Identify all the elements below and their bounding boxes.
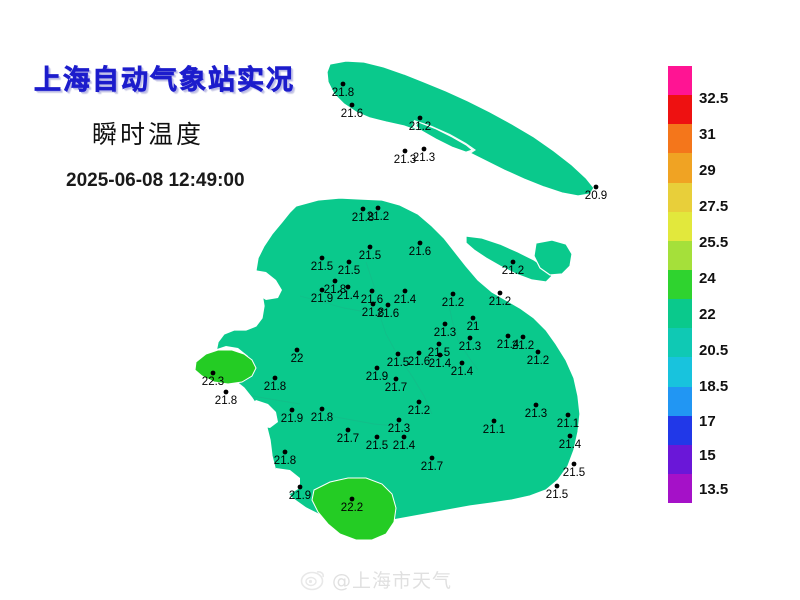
colorbar-tick: 18.5 (699, 379, 728, 394)
station-dot (568, 434, 573, 439)
station-dot (460, 361, 465, 366)
temperature-colorbar[interactable]: 32.5312927.525.5242220.518.5171513.5 (668, 66, 788, 506)
station-dot (295, 348, 300, 353)
station-dot (403, 149, 408, 154)
colorbar-tick: 29 (699, 163, 716, 178)
colorbar-tick: 13.5 (699, 482, 728, 497)
region-chongming-island[interactable] (327, 61, 594, 196)
station-dot (376, 206, 381, 211)
station-dot (572, 462, 577, 467)
station-dot (534, 403, 539, 408)
colorbar-tick: 15 (699, 448, 716, 463)
station-temperature-label: 21.5 (338, 265, 360, 277)
station-temperature-label: 21.5 (546, 489, 568, 501)
colorbar-tick: 17 (699, 414, 716, 429)
station-dot (536, 350, 541, 355)
station-temperature-label: 21.1 (483, 424, 505, 436)
colorbar-segment (668, 183, 692, 212)
colorbar-tick: 32.5 (699, 91, 728, 106)
station-temperature-label: 21.5 (387, 357, 409, 369)
station-temperature-label: 21.9 (281, 413, 303, 425)
station-dot (417, 351, 422, 356)
station-dot (594, 185, 599, 190)
station-dot (396, 352, 401, 357)
colorbar-tick: 31 (699, 127, 716, 142)
station-dot (224, 390, 229, 395)
station-dot (375, 435, 380, 440)
colorbar-segment (668, 445, 692, 474)
colorbar-segment (668, 212, 692, 241)
station-dot (320, 288, 325, 293)
colorbar-tick: 20.5 (699, 343, 728, 358)
station-temperature-label: 21.2 (409, 121, 431, 133)
station-dot (521, 335, 526, 340)
colorbar-gradient-strip (668, 66, 692, 503)
station-dot (361, 207, 366, 212)
map-svg: 21.821.621.221.321.320.921.821.221.521.6… (0, 0, 660, 600)
station-temperature-label: 22 (291, 353, 304, 365)
colorbar-segment (668, 474, 692, 503)
station-dot (403, 289, 408, 294)
station-temperature-label: 21.2 (512, 340, 534, 352)
colorbar-segment (668, 124, 692, 153)
weather-map-screenshot: 上海自动气象站实况 瞬时温度 2025-06-08 12:49:00 (0, 0, 800, 600)
station-dot (418, 116, 423, 121)
colorbar-segment (668, 153, 692, 182)
station-temperature-label: 21.8 (311, 412, 333, 424)
station-dot (443, 322, 448, 327)
station-temperature-label: 21.6 (377, 308, 399, 320)
colorbar-segment (668, 66, 692, 95)
station-temperature-label: 21.5 (311, 261, 333, 273)
station-dot (320, 256, 325, 261)
station-temperature-label: 21.4 (393, 440, 416, 452)
station-dot (346, 285, 351, 290)
colorbar-segment (668, 241, 692, 270)
station-dot (350, 497, 355, 502)
station-temperature-label: 21.4 (559, 439, 582, 451)
station-dot (320, 407, 325, 412)
station-temperature-label: 21 (467, 321, 480, 333)
station-temperature-label: 21.2 (442, 297, 464, 309)
colorbar-tick: 24 (699, 271, 716, 286)
station-temperature-label: 21.9 (311, 293, 333, 305)
station-dot (298, 485, 303, 490)
station-dot (211, 371, 216, 376)
station-temperature-label: 21.4 (337, 290, 360, 302)
station-temperature-label: 21.8 (332, 87, 354, 99)
station-temperature-label: 21.6 (341, 108, 363, 120)
station-dot (290, 408, 295, 413)
station-dot (397, 418, 402, 423)
station-temperature-label: 21.7 (385, 382, 407, 394)
station-temperature-label: 22.2 (341, 502, 363, 514)
station-temperature-label: 21.8 (274, 455, 296, 467)
colorbar-segment (668, 270, 692, 299)
station-temperature-label: 21.2 (367, 211, 389, 223)
station-dot (370, 289, 375, 294)
station-dot (417, 400, 422, 405)
station-dot (438, 353, 443, 358)
station-temperature-label: 21.4 (429, 358, 452, 370)
station-dot (346, 428, 351, 433)
station-temperature-label: 21.1 (557, 418, 579, 430)
colorbar-tick: 25.5 (699, 235, 728, 250)
station-dot (430, 456, 435, 461)
colorbar-segment (668, 387, 692, 416)
station-dot (418, 241, 423, 246)
station-temperature-label: 21.9 (289, 490, 311, 502)
station-dot (555, 484, 560, 489)
station-temperature-label: 21.5 (359, 250, 381, 262)
station-dot (402, 435, 407, 440)
station-temperature-label: 21.7 (337, 433, 359, 445)
station-dot (386, 303, 391, 308)
colorbar-segment (668, 357, 692, 386)
station-marker[interactable]: 21.8 (215, 390, 237, 407)
station-temperature-label: 21.3 (388, 423, 410, 435)
station-dot (350, 103, 355, 108)
station-temperature-label: 21.3 (434, 327, 456, 339)
station-dot (371, 302, 376, 307)
station-temperature-label: 21.2 (502, 265, 524, 277)
colorbar-tick: 27.5 (699, 199, 728, 214)
station-dot (375, 366, 380, 371)
station-dot (506, 334, 511, 339)
station-temperature-label: 21.8 (264, 381, 286, 393)
station-dot (566, 413, 571, 418)
station-temperature-label: 21.6 (408, 356, 430, 368)
temperature-map[interactable]: 21.821.621.221.321.320.921.821.221.521.6… (0, 0, 660, 600)
station-temperature-label: 21.2 (408, 405, 430, 417)
station-temperature-label: 21.7 (421, 461, 443, 473)
station-dot (437, 342, 442, 347)
station-temperature-label: 21.2 (489, 296, 511, 308)
station-temperature-label: 21.5 (563, 467, 585, 479)
station-dot (368, 245, 373, 250)
station-temperature-label: 21.2 (527, 355, 549, 367)
station-dot (341, 82, 346, 87)
station-temperature-label: 21.8 (215, 395, 237, 407)
colorbar-segment (668, 95, 692, 124)
station-dot (451, 292, 456, 297)
station-dot (422, 147, 427, 152)
station-temperature-label: 21.3 (459, 341, 481, 353)
station-dot (498, 291, 503, 296)
colorbar-segment (668, 416, 692, 445)
station-temperature-label: 22.3 (202, 376, 224, 388)
station-temperature-label: 21.5 (366, 440, 388, 452)
station-temperature-label: 21.6 (409, 246, 431, 258)
station-dot (347, 260, 352, 265)
station-dot (511, 260, 516, 265)
station-temperature-label: 21.3 (413, 152, 435, 164)
colorbar-segment (668, 299, 692, 328)
station-dot (492, 419, 497, 424)
station-dot (283, 450, 288, 455)
colorbar-tick: 22 (699, 307, 716, 322)
station-temperature-label: 20.9 (585, 190, 607, 202)
station-temperature-label: 21.4 (451, 366, 474, 378)
station-temperature-label: 21.4 (394, 294, 417, 306)
station-dot (273, 376, 278, 381)
station-dot (468, 336, 473, 341)
station-dot (471, 316, 476, 321)
station-marker[interactable]: 21.3 (413, 147, 435, 164)
colorbar-segment (668, 328, 692, 357)
station-dot (333, 279, 338, 284)
station-dot (394, 377, 399, 382)
station-temperature-label: 21.3 (525, 408, 547, 420)
